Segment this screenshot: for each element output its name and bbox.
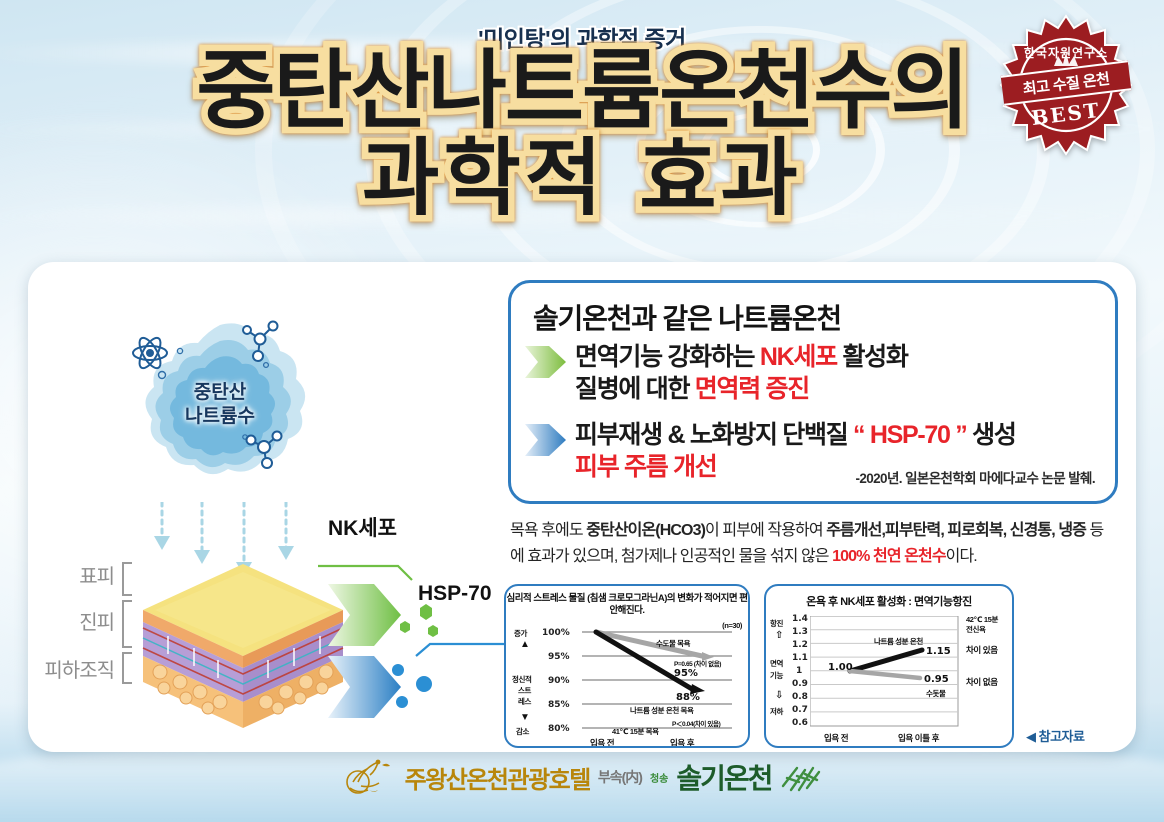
chart-nkcell-ytick-6: 0.8 <box>792 692 808 702</box>
chart-nkcell-arrow-up: ⇧ <box>775 630 783 641</box>
water-label-line-1: 중탄산 <box>194 382 246 403</box>
chart-nkcell-series-1-value: 1.15 <box>926 646 951 657</box>
infobox-heading: 솔기온천과 같은 나트륨온천 <box>533 297 841 337</box>
chart-nkcell-series-1-name: 나트륨 성분 온천 <box>874 636 923 647</box>
chart-stress-series-2-p: P＜0.04(차이 있음) <box>672 718 720 728</box>
skin-layer-label-epidermis: 표피 <box>79 560 114 589</box>
chart-stress-axis-mid-3: 레스 <box>518 696 531 707</box>
chart-nkcell-axis-mid-1: 면역 <box>770 658 783 669</box>
chart-nkcell-series-2-name: 수돗물 <box>926 688 946 699</box>
chart-stress-series-1-p: P=0.65 (차이 없음) <box>674 658 721 668</box>
poster-root: '미인탕'의 과학적 증거 중탄산나트륨온천수의 과학적 효과 한국자원연구소 … <box>0 0 1164 822</box>
chart-nkcell-title: 온욕 후 NK세포 활성화 : 면역기능항진 <box>766 595 1012 609</box>
chart-nkcell-ytick-4: 1 <box>796 666 802 676</box>
chart-stress-xtick-0: 입욕 전 <box>590 737 614 748</box>
footer-affiliation: 부속(内) <box>598 767 642 787</box>
water-blob-label: 중탄산 나트륨수 <box>120 381 320 429</box>
benefit-text-nk: 면역기능 강화하는 NK세포 활성화 질병에 대한 면역력 증진 <box>575 341 908 405</box>
chart-nkcell-ytick-5: 0.9 <box>792 679 808 689</box>
title-line-2: 과학적 효과 <box>0 136 1164 222</box>
chart-stress-series-2-value: 88% <box>676 692 700 703</box>
chart-nkcell: 온욕 후 NK세포 활성화 : 면역기능항진 항진 ⇧ 면역 기능 ⇩ 저하 1… <box>764 584 1014 748</box>
page-title: 중탄산나트륨온천수의 과학적 효과 <box>0 48 1164 221</box>
chart-stress-xtick-1: 입욕 후 <box>670 737 694 748</box>
chart-stress: 심리적 스트레스 물질 (침샘 크로모그라닌A)의 변화가 적어지면 편안해진다… <box>504 584 750 748</box>
chart-stress-axis-mid-2: 스트 <box>518 685 531 696</box>
water-label-line-2: 나트륨수 <box>185 406 255 427</box>
footer-spa-name: 솔기온천 <box>676 757 771 797</box>
chart-stress-ytick-3: 85% <box>548 700 570 710</box>
reference-note: ◀ 참고자료 <box>1026 726 1084 745</box>
chart-nkcell-condition-2: 전신욕 <box>966 624 986 635</box>
skin-layer-label-subcutis: 피하조직 <box>44 654 114 683</box>
chart-nkcell-xtick-1: 입욕 이틀 후 <box>898 732 939 744</box>
nk-cell-label: NK세포 <box>328 512 397 542</box>
chart-stress-series-1-name: 수도물 목욕 <box>656 638 690 649</box>
chart-nkcell-axis-mid-2: 기능 <box>770 670 783 681</box>
chart-nkcell-start-value: 1.00 <box>828 662 853 673</box>
summary-paragraph: 목욕 후에도 중탄산이온(HCO3)이 피부에 작용하여 주름개선,피부탄력, … <box>510 518 1110 570</box>
chart-nkcell-diff-2: 차이 없음 <box>966 676 998 688</box>
chart-nkcell-diff-1: 차이 있음 <box>966 644 998 656</box>
bullet-arrow-green-icon <box>525 345 567 379</box>
footer-region: 청송 <box>650 770 668 785</box>
chart-nkcell-ytick-8: 0.6 <box>792 718 808 728</box>
footer-hotel-name: 주왕산온천관광호텔 <box>405 760 590 795</box>
chart-nkcell-ytick-1: 1.3 <box>792 627 808 637</box>
benefits-infobox: 솔기온천과 같은 나트륨온천 면역기능 강화하는 NK세포 활성화 질병에 대한… <box>508 280 1118 504</box>
chart-stress-axis-top: 증가 <box>514 628 527 639</box>
phoenix-bird-logo-icon <box>341 756 397 798</box>
chart-stress-axis-mid-1: 정신적 <box>512 674 532 685</box>
chart-stress-title: 심리적 스트레스 물질 (침샘 크로모그라닌A)의 변화가 적어지면 편안해진다… <box>506 593 748 618</box>
chart-nkcell-axis-top: 항진 <box>770 618 783 629</box>
footer-branding: 주왕산온천관광호텔 부속(内) 청송 솔기온천 <box>0 756 1164 798</box>
chart-nkcell-series-2-value: 0.95 <box>924 674 949 685</box>
chart-stress-series-1-value: 95% <box>674 668 698 679</box>
chart-stress-footnote: 41℃ 15분 목욕 <box>612 726 659 737</box>
chart-stress-ytick-2: 90% <box>548 676 570 686</box>
chart-nkcell-ytick-2: 1.2 <box>792 640 808 650</box>
skin-cross-section <box>138 562 348 732</box>
title-line-1: 중탄산나트륨온천수의 <box>0 48 1164 136</box>
chart-stress-arrow-down: ▼ <box>520 712 530 723</box>
chart-nkcell-ytick-0: 1.4 <box>792 614 808 624</box>
bullet-arrow-blue-icon <box>525 423 567 457</box>
hsp70-label: HSP-70 <box>418 582 492 606</box>
chart-stress-ytick-1: 95% <box>548 652 570 662</box>
chart-stress-arrow-up: ▲ <box>520 639 530 650</box>
benefit-line-1: 면역기능 강화하는 NK세포 활성화 <box>575 343 908 371</box>
benefit-line-4: 피부 주름 개선 <box>575 453 717 481</box>
chart-nkcell-ytick-3: 1.1 <box>792 653 808 663</box>
best-quality-badge: 한국자원연구소 최고 수질 온천 BEST <box>1000 14 1132 156</box>
chart-stress-ytick-0: 100% <box>542 628 570 638</box>
pine-needles-icon <box>779 760 823 794</box>
chart-nkcell-xtick-0: 입욕 전 <box>824 732 848 744</box>
chart-nkcell-arrow-down: ⇩ <box>775 690 783 701</box>
skin-absorption-illustration: 중탄산 나트륨수 <box>28 262 498 752</box>
chart-stress-series-2-name: 나트륨 성분 온천 목욕 <box>630 705 694 716</box>
chart-nkcell-axis-bottom: 저하 <box>770 706 783 717</box>
benefit-line-2: 질병에 대한 면역력 증진 <box>575 375 809 403</box>
chart-stress-axis-bottom: 감소 <box>516 726 529 737</box>
chart-nkcell-ytick-7: 0.7 <box>792 705 808 715</box>
chart-stress-ytick-4: 80% <box>548 724 570 734</box>
benefit-line-3: 피부재생 & 노화방지 단백질 “ HSP-70 ” 생성 <box>575 421 1016 449</box>
skin-layer-label-dermis: 진피 <box>79 606 114 635</box>
citation-text: -2020년. 일본온천학회 마에다교수 논문 발췌. <box>855 467 1095 487</box>
bicarbonate-water-blob: 중탄산 나트륨수 <box>120 317 320 507</box>
